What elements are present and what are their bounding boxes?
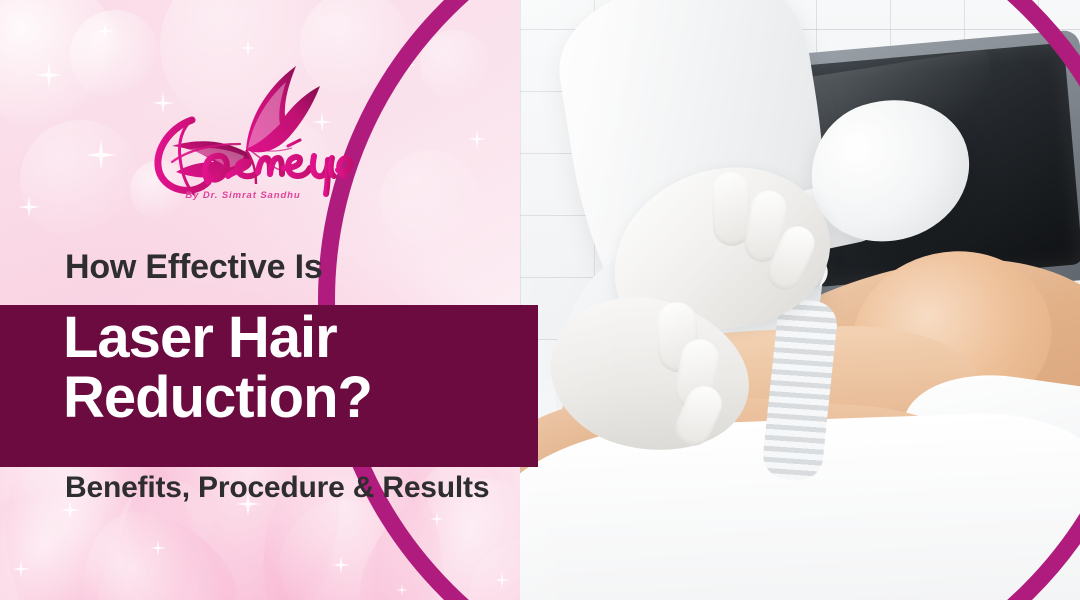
cosmetique-logo[interactable]: By Dr. Simrat Sandhu xyxy=(128,58,358,228)
headline-line-1: Laser Hair xyxy=(63,308,372,368)
photo-soft-light xyxy=(520,0,1080,600)
page-title: Laser Hair Reduction? xyxy=(63,308,372,427)
headline-line-2: Reduction? xyxy=(63,368,372,428)
clinic-photo xyxy=(520,0,1080,600)
laser-hair-reduction-banner: By Dr. Simrat Sandhu How Effective Is La… xyxy=(0,0,1080,600)
headline-subline: Benefits, Procedure & Results xyxy=(65,473,489,503)
logo-tagline: By Dr. Simrat Sandhu xyxy=(128,190,358,201)
headline-kicker: How Effective Is xyxy=(65,250,323,284)
